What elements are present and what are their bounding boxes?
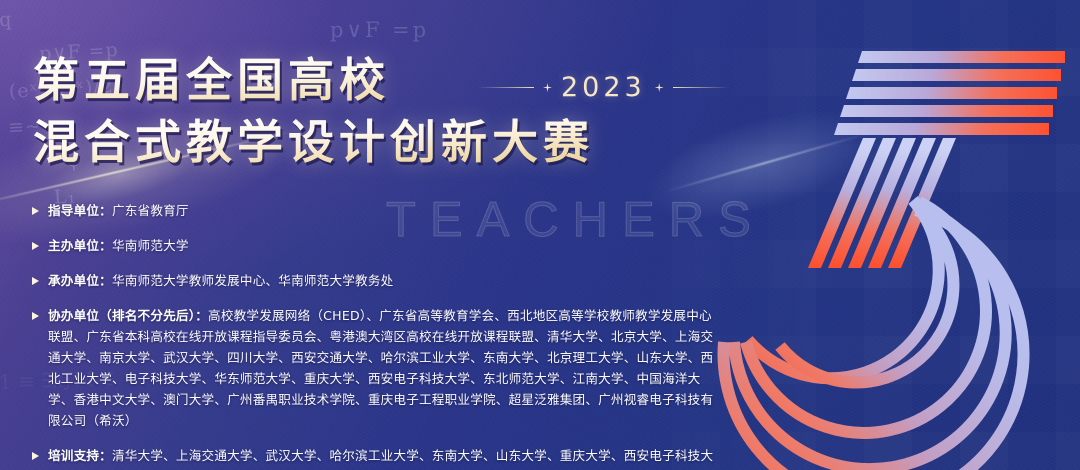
triangle-bullet-icon (32, 312, 39, 320)
badge-line-right (673, 87, 729, 88)
list-item-label: 指导单位： (48, 203, 112, 218)
numeral-five-graphic (690, 20, 1080, 470)
triangle-bullet-icon (32, 207, 39, 215)
list-item: 主办单位：华南师范大学 (22, 235, 722, 256)
list-item-label: 协办单位（排名不分先后）： (48, 308, 208, 323)
list-item-text: 指导单位：广东省教育厅 (48, 200, 189, 221)
list-item-label: 培训支持： (48, 448, 112, 463)
title-line-2: 混合式教学设计创新大赛 (33, 114, 594, 170)
year-badge: 2023 (478, 72, 729, 103)
year-label: 2023 (561, 72, 646, 103)
list-item: 协办单位（排名不分先后）：高校教学发展网络（CHED）、广东省高等教育学会、西北… (22, 305, 722, 431)
list-item-value: 广东省教育厅 (112, 203, 189, 218)
list-item-text: 培训支持：清华大学、上海交通大学、武汉大学、哈尔滨工业大学、东南大学、山东大学、… (48, 445, 722, 470)
list-item-label: 主办单位： (48, 238, 112, 253)
event-banner: ∫ q p∨F =p = (eˣ· e⁻ˣ)/2 F ≡~ ψ L₁ p∨F =… (0, 0, 1080, 470)
list-item-value: 华南师范大学教师发展中心、华南师范大学教务处 (112, 273, 393, 288)
list-item-value: 华南师范大学 (112, 238, 189, 253)
star-icon-left (543, 83, 552, 92)
list-item-label: 承办单位： (48, 273, 112, 288)
triangle-bullet-icon (32, 277, 39, 285)
triangle-bullet-icon (32, 452, 39, 460)
list-item: 培训支持：清华大学、上海交通大学、武汉大学、哈尔滨工业大学、东南大学、山东大学、… (22, 445, 722, 470)
organizer-info-list: 指导单位：广东省教育厅 主办单位：华南师范大学 承办单位：华南师范大学教师发展中… (22, 200, 722, 470)
list-item-value: 高校教学发展网络（CHED）、广东省高等教育学会、西北地区高等学校教师教学发展中… (48, 308, 713, 428)
badge-line-left (478, 87, 534, 88)
list-item-text: 协办单位（排名不分先后）：高校教学发展网络（CHED）、广东省高等教育学会、西北… (48, 305, 722, 431)
title-block: 第五届全国高校 混合式教学设计创新大赛 (33, 52, 594, 170)
list-item: 指导单位：广东省教育厅 (22, 200, 722, 221)
list-item: 承办单位：华南师范大学教师发展中心、华南师范大学教务处 (22, 270, 722, 291)
star-icon-right (655, 83, 664, 92)
list-item-value: 清华大学、上海交通大学、武汉大学、哈尔滨工业大学、东南大学、山东大学、重庆大学、… (48, 448, 713, 470)
list-item-text: 主办单位：华南师范大学 (48, 235, 189, 256)
triangle-bullet-icon (32, 242, 39, 250)
list-item-text: 承办单位：华南师范大学教师发展中心、华南师范大学教务处 (48, 270, 393, 291)
